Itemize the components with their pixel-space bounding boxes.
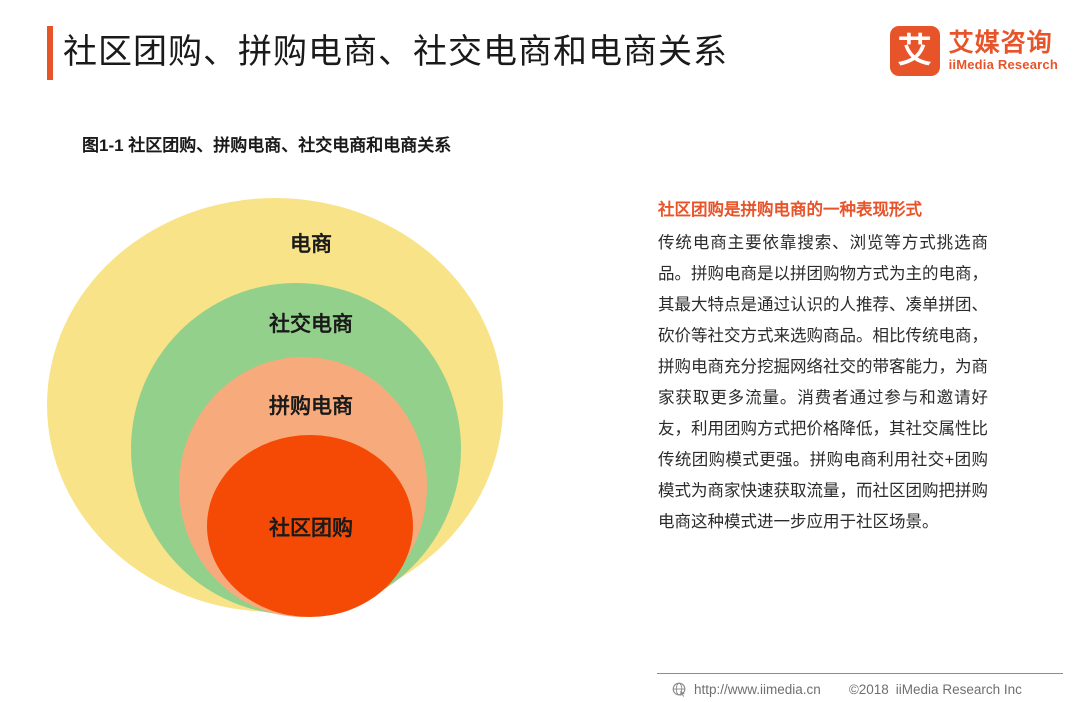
globe-icon [672, 682, 687, 697]
brand-logo: 艾 艾媒咨询 iiMedia Research [890, 26, 1058, 76]
panel-body-text: 传统电商主要依靠搜索、浏览等方式挑选商品。拼购电商是以拼团购物方式为主的电商，其… [658, 228, 988, 538]
venn-label-social-ecommerce: 社交电商 [269, 308, 353, 338]
footer-company: iiMedia Research Inc [896, 682, 1022, 697]
nested-venn-diagram: 电商 社交电商 拼购电商 社区团购 [0, 0, 620, 702]
panel-heading: 社区团购是拼购电商的一种表现形式 [658, 198, 988, 222]
description-panel: 社区团购是拼购电商的一种表现形式 传统电商主要依靠搜索、浏览等方式挑选商品。拼购… [658, 198, 988, 538]
venn-label-ecommerce: 电商 [290, 228, 332, 258]
logo-name-cn: 艾媒咨询 [949, 30, 1058, 57]
footer-divider [657, 673, 1063, 674]
page-footer: http://www.iimedia.cn ©2018 iiMedia Rese… [672, 678, 1072, 700]
logo-name-en: iiMedia Research [949, 57, 1058, 73]
venn-svg [0, 0, 620, 702]
venn-label-community-group-buying: 社区团购 [269, 512, 353, 542]
footer-url[interactable]: http://www.iimedia.cn [694, 682, 821, 697]
logo-text: 艾媒咨询 iiMedia Research [949, 30, 1058, 73]
venn-label-group-ecommerce: 拼购电商 [269, 390, 353, 420]
footer-copyright: ©2018 [849, 682, 889, 697]
logo-mark-icon: 艾 [890, 26, 940, 76]
